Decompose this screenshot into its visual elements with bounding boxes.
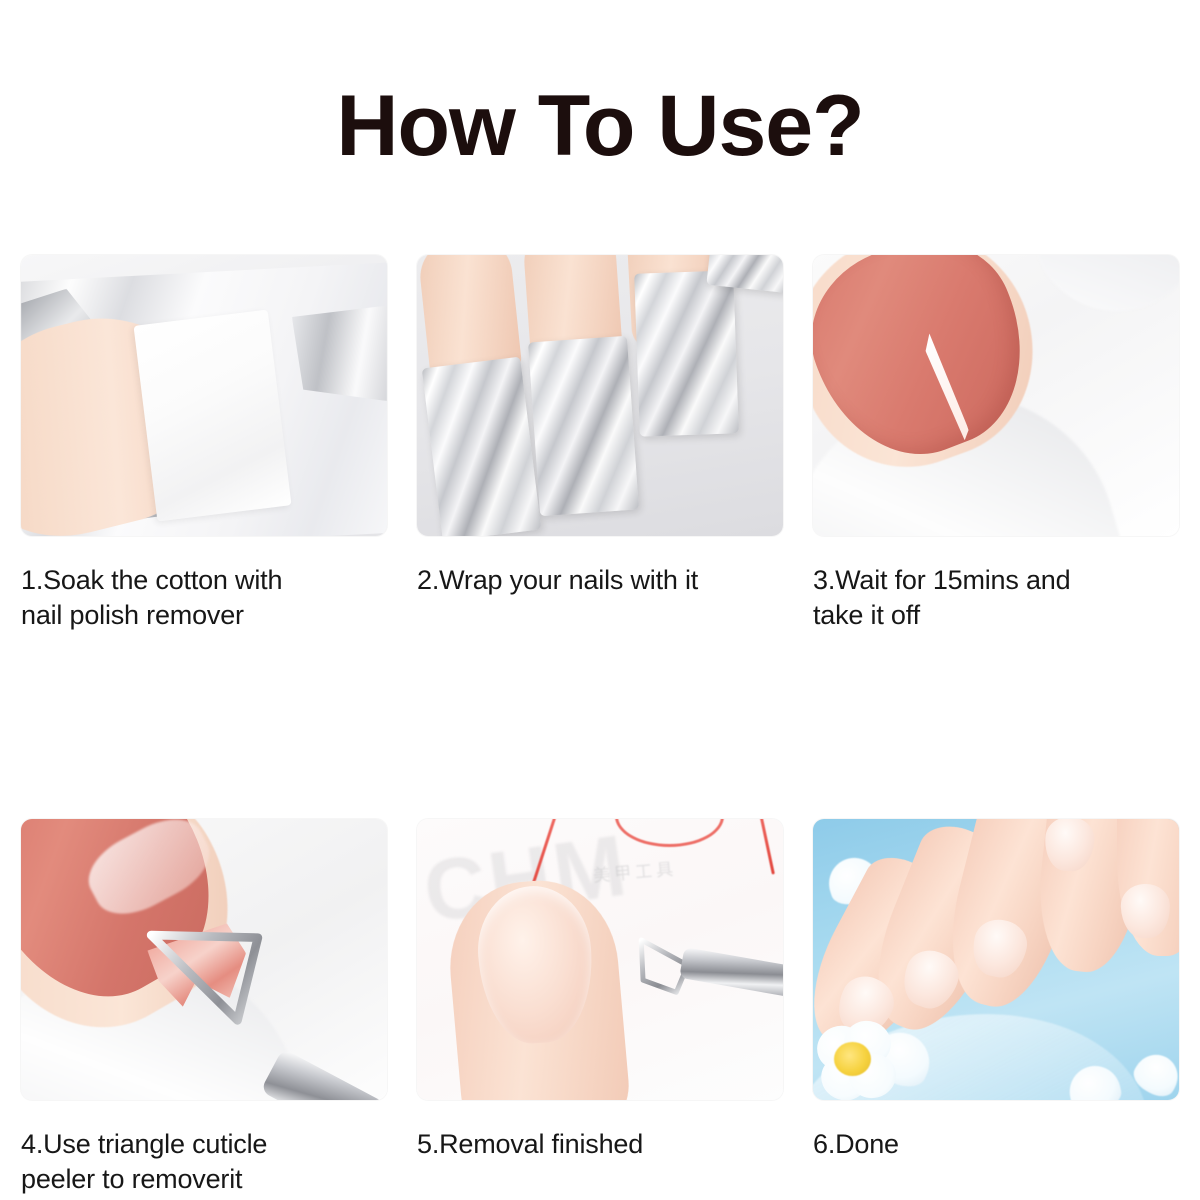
step-caption-1: 1.Soak the cotton with nail polish remov… <box>21 563 387 633</box>
page-title: How To Use? <box>0 80 1200 172</box>
hand-shape <box>820 819 1179 1049</box>
foil-fold-right-shape <box>292 306 387 402</box>
foil-wrap-shape <box>634 270 738 436</box>
step-card-4: 4.Use triangle cuticle peeler to remover… <box>21 819 387 1197</box>
step-card-2: 2.Wrap your nails with it <box>417 255 783 633</box>
step-caption-3: 3.Wait for 15mins and take it off <box>813 563 1179 633</box>
red-line-art-shape <box>615 819 725 847</box>
steps-grid: 1.Soak the cotton with nail polish remov… <box>21 255 1179 1197</box>
cotton-pad-shape <box>134 309 292 521</box>
jasmine-flower-shape <box>817 1021 898 1100</box>
step-caption-4: 4.Use triangle cuticle peeler to remover… <box>21 1127 387 1197</box>
infographic-page: How To Use? 1.Soak the cotton with nail … <box>0 0 1200 1200</box>
foil-wrap-shape <box>528 336 639 517</box>
step-card-5: CHM 美甲工具 <box>417 819 783 1197</box>
watermark-subtext: 美甲工具 <box>592 855 678 887</box>
step-card-1: 1.Soak the cotton with nail polish remov… <box>21 255 387 633</box>
triangle-peeler-photo <box>21 819 387 1100</box>
soak-cotton-photo <box>21 255 387 536</box>
step-caption-5: 5.Removal finished <box>417 1127 783 1162</box>
removal-finished-photo: CHM 美甲工具 <box>417 819 783 1100</box>
peeler-handle-shape <box>260 1049 387 1100</box>
wait-15mins-photo <box>813 255 1179 536</box>
step-card-6: 6.Done <box>813 819 1179 1197</box>
step-card-3: 3.Wait for 15mins and take it off <box>813 255 1179 633</box>
silk-fabric-shape <box>1033 255 1179 311</box>
step-caption-2: 2.Wrap your nails with it <box>417 563 783 598</box>
done-photo <box>813 819 1179 1100</box>
red-line-art-shape <box>758 819 775 875</box>
step-caption-6: 6.Done <box>813 1127 1179 1162</box>
foil-wrap-shape <box>421 356 540 536</box>
wrap-nails-photo <box>417 255 783 536</box>
